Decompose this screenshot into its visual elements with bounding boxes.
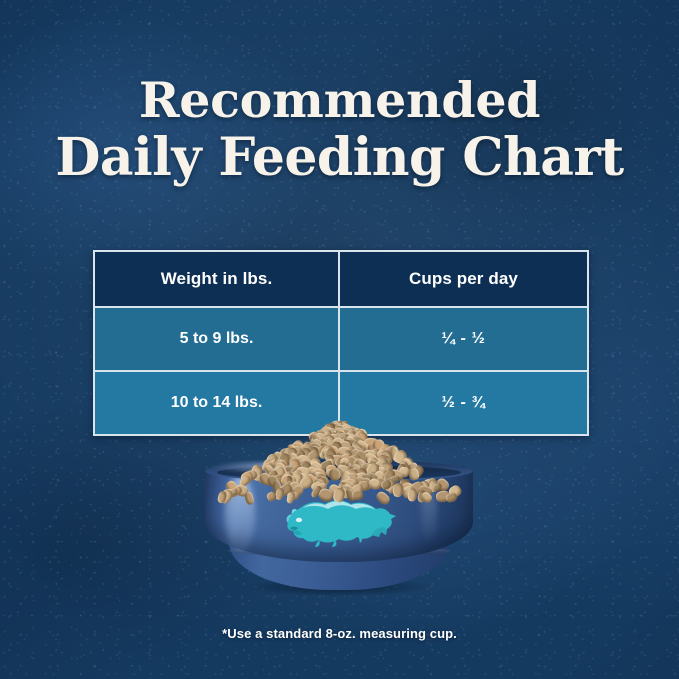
feeding-table: Weight in lbs. Cups per day 5 to 9 lbs. … bbox=[93, 250, 589, 436]
cell-weight-1: 5 to 9 lbs. bbox=[95, 308, 340, 370]
dog-bowl-illustration bbox=[189, 424, 489, 609]
feeding-chart-graphic: Recommended Daily Feeding Chart Weight i… bbox=[0, 0, 679, 679]
table-row: 5 to 9 lbs. ¼ - ½ bbox=[95, 306, 587, 370]
footnote: *Use a standard 8-oz. measuring cup. bbox=[0, 626, 679, 641]
table-header-weight: Weight in lbs. bbox=[95, 252, 340, 306]
table-header-row: Weight in lbs. Cups per day bbox=[95, 252, 587, 306]
table-header-cups: Cups per day bbox=[340, 252, 587, 306]
page-title-line-1: Recommended bbox=[0, 72, 679, 129]
kibble-piece bbox=[329, 469, 341, 481]
cell-cups-1: ¼ - ½ bbox=[340, 308, 587, 370]
page-title: Recommended Daily Feeding Chart bbox=[0, 72, 679, 186]
kibble-piece bbox=[392, 482, 403, 497]
page-title-line-2: Daily Feeding Chart bbox=[0, 129, 679, 186]
kibble-piece bbox=[351, 489, 363, 500]
